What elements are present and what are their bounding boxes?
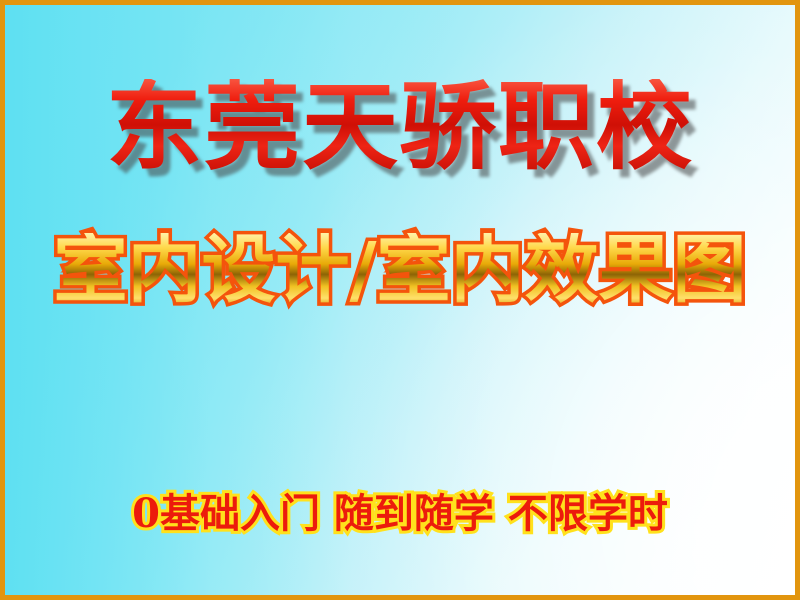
course-subtitle: 室内设计/室内效果图 室内设计/室内效果图 bbox=[5, 233, 795, 317]
slide-canvas: 东莞天骄职校 东莞天骄职校 室内设计/室内效果图 室内设计/室内效果图 0基础入… bbox=[0, 0, 800, 600]
school-title-text: 东莞天骄职校 bbox=[5, 79, 795, 175]
promo-tagline: 0基础入门 随到随学 不限学时 0基础入门 随到随学 不限学时 bbox=[5, 494, 795, 542]
school-title: 东莞天骄职校 东莞天骄职校 bbox=[5, 79, 795, 187]
promo-tagline-text: 0基础入门 随到随学 不限学时 bbox=[5, 494, 795, 534]
course-subtitle-text: 室内设计/室内效果图 bbox=[5, 233, 795, 307]
